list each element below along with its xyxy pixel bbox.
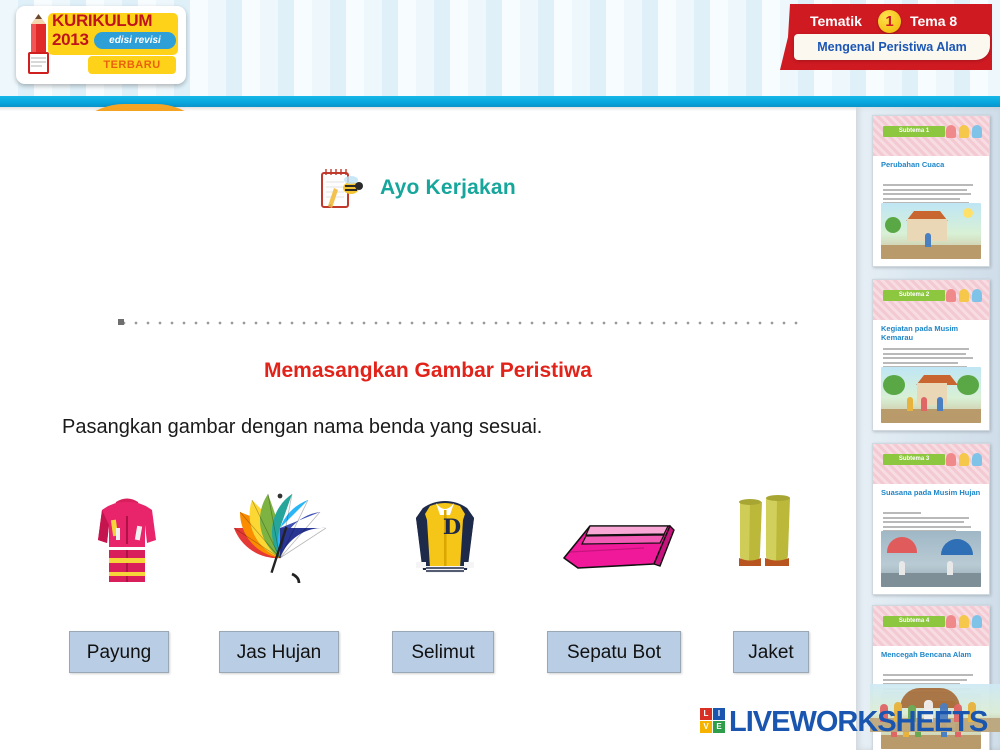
thumbnail-title: Kegiatan pada Musim Kemarau [881, 324, 981, 342]
logo-wordmark: LIVEWORKSHEETS [729, 706, 987, 739]
answer-option-row: Payung Jas Hujan Selimut Sepatu Bot Jake… [0, 631, 856, 691]
liveworksheets-logo: L I V E LIVEWORKSHEETS [700, 702, 1000, 742]
logo-cube-l: L [700, 708, 712, 720]
page-subtitle: Memasangkan Gambar Peristiwa [0, 359, 856, 383]
kids-icon [946, 285, 984, 305]
kids-icon [946, 611, 984, 631]
activity-header: Ayo Kerjakan [318, 166, 578, 212]
thumbnail-tag: Subtema 3 [883, 454, 945, 465]
blanket-image [550, 486, 660, 596]
worksheet-page: KURIKULUM 2013 edisi revisi TERBARU Tema… [0, 0, 1000, 750]
boots-image [710, 486, 820, 596]
thumbnail-title: Perubahan Cuaca [881, 160, 981, 169]
thumbnail-tag: Subtema 4 [883, 616, 945, 627]
umbrella-image [220, 486, 330, 596]
notepad-bee-icon [318, 166, 366, 212]
thumbnail-tag: Subtema 2 [883, 290, 945, 301]
thumbnail-illustration [881, 531, 981, 587]
thumbnail-illustration [881, 203, 981, 259]
thumbnail-header: Subtema 4 [873, 606, 989, 646]
divider-dotted [118, 320, 798, 326]
item-image-row: D [60, 486, 840, 596]
thumbnail-illustration [881, 367, 981, 423]
answer-option-sepatu-bot[interactable]: Sepatu Bot [547, 631, 681, 673]
kids-icon [946, 449, 984, 469]
curriculum-newest: TERBARU [88, 56, 176, 74]
tematik-subtitle-plate: Mengenal Peristiwa Alam [794, 34, 990, 60]
answer-option-jaket[interactable]: Jaket [733, 631, 809, 673]
divider-cap [118, 319, 124, 325]
thumbnail-header: Subtema 2 [873, 280, 989, 320]
thumbnail-header: Subtema 3 [873, 444, 989, 484]
raincoat-image [72, 486, 182, 596]
tematik-number: 1 [878, 10, 901, 33]
page-header: KURIKULUM 2013 edisi revisi TERBARU Tema… [0, 0, 1000, 107]
logo-cube-v: V [700, 721, 712, 733]
svg-text:D: D [443, 514, 461, 539]
answer-option-jas-hujan[interactable]: Jas Hujan [219, 631, 339, 673]
tematik-subtitle: Mengenal Peristiwa Alam [794, 34, 990, 60]
tematik-tema: Tema 8 [910, 9, 957, 33]
kids-icon [946, 121, 984, 141]
curriculum-edition: edisi revisi [94, 32, 176, 49]
tematik-ribbon: Tematik 1 Tema 8 Mengenal Peristiwa Alam [780, 0, 1000, 80]
thumbnail-tag: Subtema 1 [883, 126, 945, 137]
curriculum-year: 2013 [52, 30, 89, 50]
jacket-image: D [390, 486, 500, 596]
thumbnail-header: Subtema 1 [873, 116, 989, 156]
thumbnail-sidebar[interactable]: Subtema 1 Perubahan Cuaca [856, 107, 1000, 750]
tematik-row: Tematik 1 Tema 8 [798, 9, 988, 33]
thumbnail-title: Suasana pada Musim Hujan [881, 488, 981, 497]
thumbnail-subtema-3[interactable]: Subtema 3 Suasana pada Musim Hujan [872, 443, 990, 595]
thumbnail-subtema-2[interactable]: Subtema 2 Kegiatan pada Musim Kemarau [872, 279, 990, 431]
logo-cubes-icon: L I V E [700, 708, 726, 734]
logo-cube-i: I [713, 708, 725, 720]
curriculum-title: KURIKULUM [52, 13, 178, 29]
curriculum-badge: KURIKULUM 2013 edisi revisi TERBARU [16, 6, 186, 84]
worksheet-content: Ayo Kerjakan Memasangkan Gambar Peristiw… [0, 111, 856, 750]
logo-cube-e: E [713, 721, 725, 733]
activity-label: Ayo Kerjakan [380, 176, 516, 200]
thumbnail-subtema-1[interactable]: Subtema 1 Perubahan Cuaca [872, 115, 990, 267]
thumbnail-title: Mencegah Bencana Alam [881, 650, 981, 659]
tematik-label: Tematik [810, 9, 862, 33]
answer-option-payung[interactable]: Payung [69, 631, 169, 673]
instruction-text: Pasangkan gambar dengan nama benda yang … [62, 416, 542, 439]
answer-option-selimut[interactable]: Selimut [392, 631, 494, 673]
